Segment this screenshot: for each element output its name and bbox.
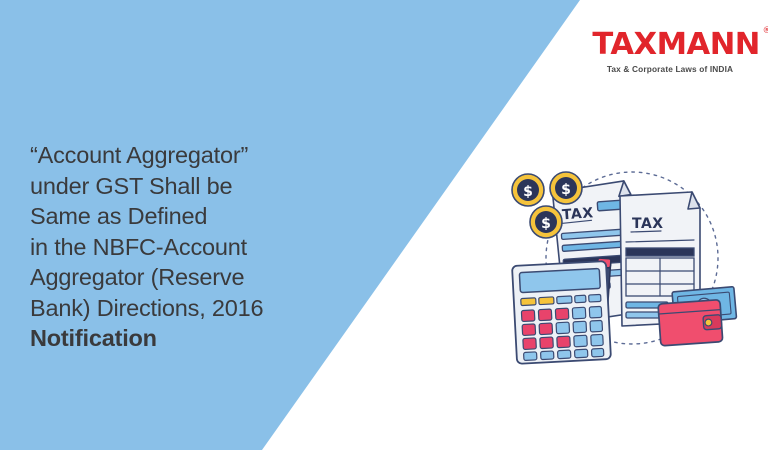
tax-documents-illustration: .ln { stroke:#3B4A72; stroke-width:1.6; … (490, 148, 746, 372)
wallet (658, 300, 723, 346)
logo-wordmark: TAXMANN ® (592, 30, 760, 60)
headline-line-5: Aggregator (Reserve (30, 262, 370, 293)
page-title: “Account Aggregator” under GST Shall be … (30, 140, 370, 354)
headline-line-2: under GST Shall be (30, 171, 370, 202)
svg-text:$: $ (523, 184, 533, 200)
banner: “Account Aggregator” under GST Shall be … (0, 0, 768, 450)
headline-line-1: “Account Aggregator” (30, 140, 370, 171)
svg-text:$: $ (561, 182, 571, 198)
svg-text:$: $ (541, 216, 551, 232)
registered-trademark-icon: ® (762, 27, 768, 36)
svg-text:TAX: TAX (632, 216, 664, 232)
coin-2: $ (550, 172, 582, 204)
coin-3: $ (530, 206, 562, 238)
coin-1: $ (512, 174, 544, 206)
logo-wordmark-text: TAXMANN (592, 27, 760, 62)
headline-line-4: in the NBFC-Account (30, 232, 370, 263)
taxmann-logo[interactable]: TAXMANN ® Tax & Corporate Laws of INDIA (594, 30, 746, 73)
calculator (512, 261, 611, 364)
headline-line-6: Bank) Directions, 2016 (30, 293, 370, 324)
headline-line-7: Notification (30, 323, 370, 354)
headline-line-3: Same as Defined (30, 201, 370, 232)
logo-tagline: Tax & Corporate Laws of INDIA (594, 65, 746, 73)
